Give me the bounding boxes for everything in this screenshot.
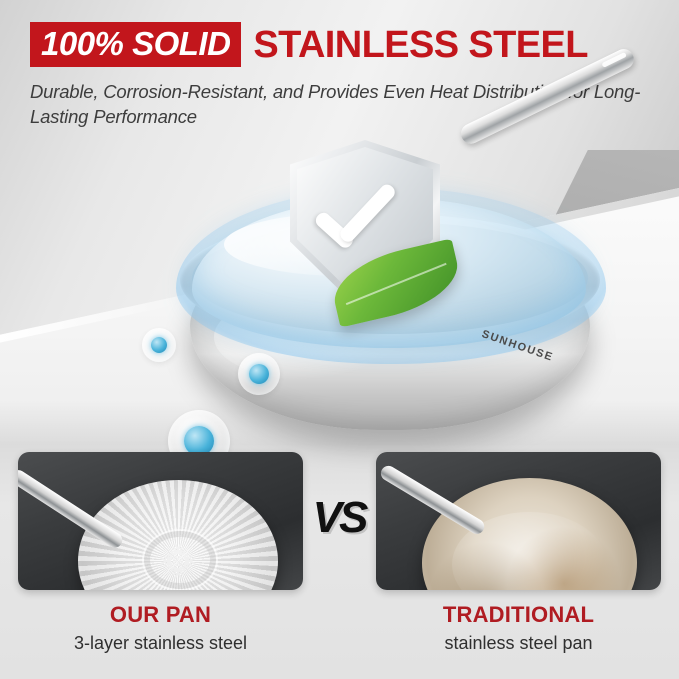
page-title: STAINLESS STEEL — [253, 26, 587, 64]
solid-badge: 100% SOLID — [30, 22, 241, 67]
hero-illustration: SUNHOUSE — [80, 110, 640, 450]
shield-check-icon — [290, 140, 440, 315]
caption-our-pan: OUR PAN 3-layer stainless steel — [18, 602, 303, 654]
comparison-card-our-pan — [18, 452, 303, 590]
stained-pan-image — [422, 478, 637, 590]
vs-divider-icon: VS — [306, 482, 372, 554]
product-infographic: 100% SOLID STAINLESS STEEL Durable, Corr… — [0, 0, 679, 679]
checkmark-stroke-long — [338, 182, 398, 245]
germ-core — [249, 364, 269, 384]
checkmark-icon — [314, 192, 410, 240]
caption-subtitle: 3-layer stainless steel — [18, 633, 303, 654]
germ-bubble-icon — [142, 328, 176, 362]
comparison-card-traditional — [376, 452, 661, 590]
caption-traditional: TRADITIONAL stainless steel pan — [376, 602, 661, 654]
solid-badge-label: 100% SOLID — [41, 27, 230, 60]
germ-bubble-icon — [238, 353, 280, 395]
caption-title: TRADITIONAL — [376, 602, 661, 628]
title-row: 100% SOLID STAINLESS STEEL — [30, 22, 660, 67]
caption-title: OUR PAN — [18, 602, 303, 628]
comparison-section: VS OUR PAN 3-layer stainless steel TRADI… — [0, 452, 679, 679]
caption-subtitle: stainless steel pan — [376, 633, 661, 654]
germ-core — [151, 337, 167, 353]
